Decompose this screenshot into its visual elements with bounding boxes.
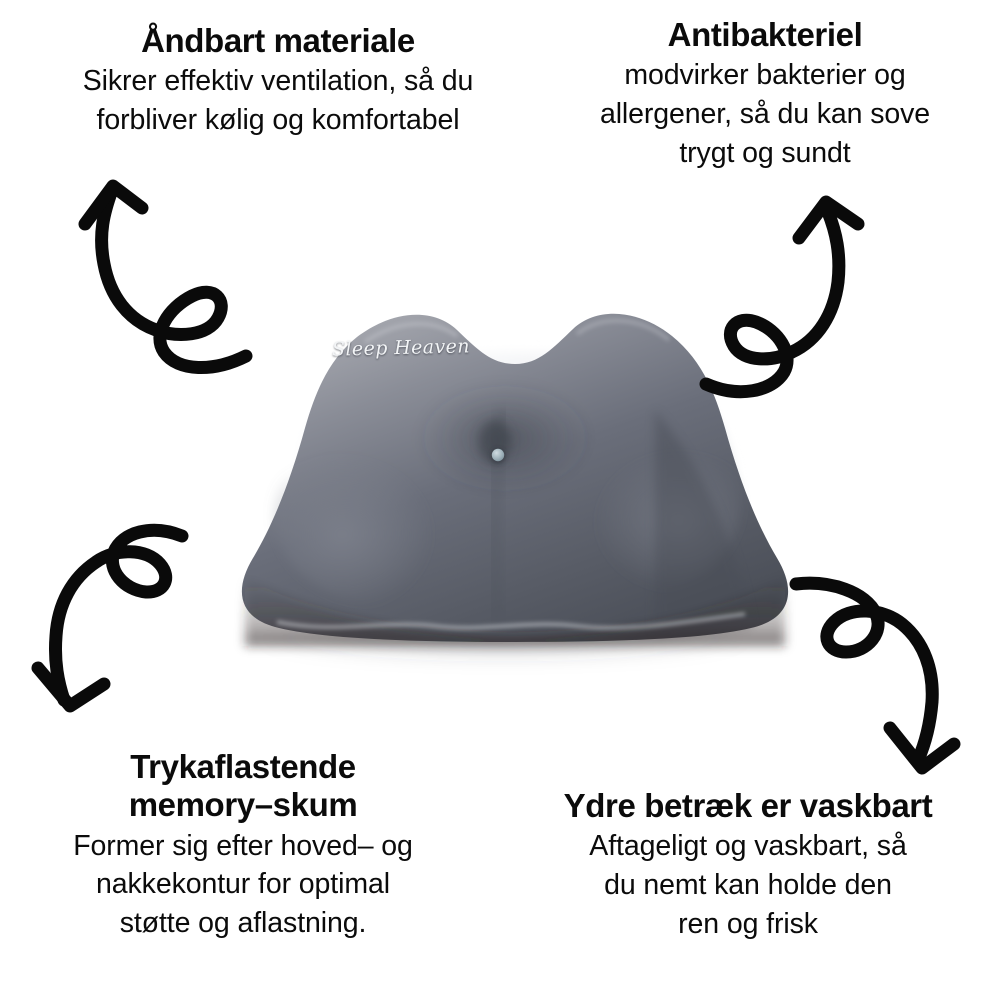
memory-foam-body [242, 314, 788, 646]
callout-body: modvirker bakterier og allergener, så du… [540, 56, 990, 172]
product-image: Sleep Heaven [185, 290, 825, 660]
callout-body: Former sig efter hoved– og nakkekontur f… [8, 827, 478, 943]
callout-title: Åndbart materiale [14, 22, 542, 60]
callout-title: Ydre betræk er vaskbart [498, 787, 998, 825]
callout-body: Aftageligt og vaskbart, så du nemt kan h… [498, 827, 998, 943]
callout-pressure-relieving-memory-foam: Trykaflastende memory–skum Former sig ef… [8, 748, 478, 943]
callout-title: Antibakteriel [540, 16, 990, 54]
callout-washable-outer-cover: Ydre betræk er vaskbart Aftageligt og va… [498, 787, 998, 944]
callout-breathable-material: Åndbart materiale Sikrer effektiv ventil… [14, 22, 542, 140]
callout-antibacterial: Antibakteriel modvirker bakterier og all… [540, 16, 990, 173]
callout-body: Sikrer effektiv ventilation, så du forbl… [14, 62, 542, 140]
center-button [479, 420, 511, 464]
product-benefits-infographic: Sleep Heaven Åndbart materiale Sikrer ef… [0, 0, 1000, 1000]
curly-arrow-down-left-icon [38, 530, 182, 706]
callout-title: Trykaflastende memory–skum [8, 748, 478, 825]
